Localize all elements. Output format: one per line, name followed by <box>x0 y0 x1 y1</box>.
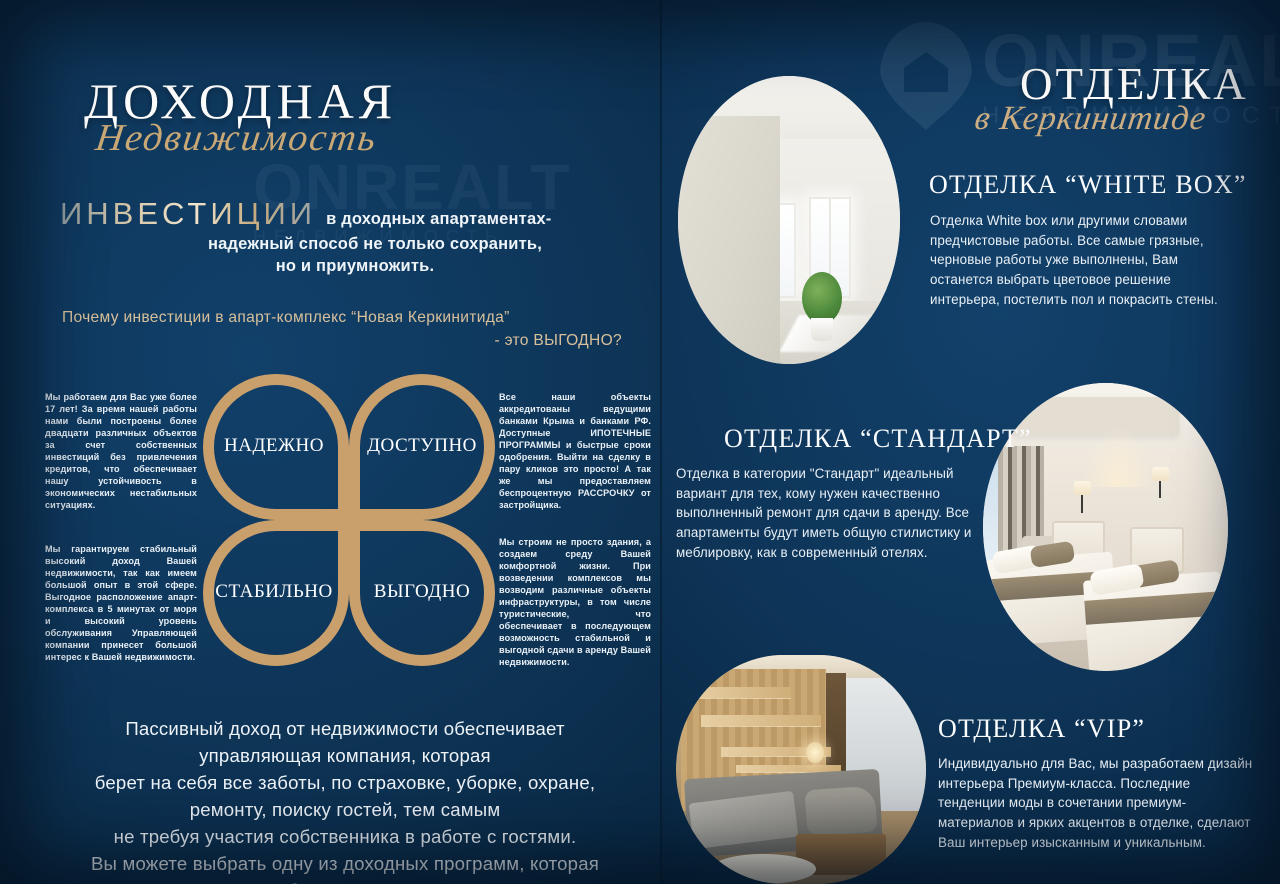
note-bottom-left: Мы гарантируем стабильный высокий доход … <box>45 543 197 663</box>
panel-divider <box>660 0 662 884</box>
note-bottom-right: Мы строим не просто здания, а создаем ср… <box>499 536 651 668</box>
empty-white-room-photo <box>678 76 900 364</box>
section-title-standard: ОТДЕЛКА “СТАНДАРТ” <box>724 424 1032 454</box>
why-line-2: - это ВЫГОДНО? <box>62 329 622 352</box>
paragraph-line: Вам больше подходит. <box>40 878 650 884</box>
section-body-white-box: Отделка White box или другими словами пр… <box>930 211 1230 310</box>
paragraph-line: берет на себя все заботы, по страховке, … <box>40 770 650 797</box>
paragraph-line: управляющая компания, которая <box>40 743 650 770</box>
petal-label-profitable: ВЫГОДНО <box>349 581 495 603</box>
investments-line3: но и приумножить. <box>60 257 620 276</box>
note-top-left: Мы работаем для Вас уже более 17 лет! За… <box>45 391 197 511</box>
paragraph-line: ремонту, поиску гостей, тем самым <box>40 797 650 824</box>
investments-headline: ИНВЕСТИЦИИ <box>60 196 316 232</box>
right-title-script: в Керкинитиде <box>972 100 1208 138</box>
brochure-page: ONREALT НЕДВИЖИМОСТЬ ONREALT НЕДВИЖИМОСТ… <box>0 0 1280 884</box>
benefits-petal-diagram: НАДЕЖНО ДОСТУПНО СТАБИЛЬНО ВЫГОДНО <box>203 374 495 666</box>
left-title-script: Недвижимость <box>93 116 380 160</box>
investments-line2: надежный способ не только сохранить, <box>60 235 620 254</box>
petal-label-affordable: ДОСТУПНО <box>349 435 495 457</box>
investments-block: ИНВЕСТИЦИИ в доходных апартаментах- наде… <box>60 196 620 276</box>
investments-tail: в доходных апартаментах- <box>326 210 551 229</box>
section-body-vip: Индивидуально для Вас, мы разработаем ди… <box>938 754 1260 853</box>
section-title-white-box: ОТДЕЛКА “WHITE BOX” <box>929 170 1247 200</box>
passive-income-paragraph: Пассивный доход от недвижимости обеспечи… <box>40 716 650 884</box>
why-line-1: Почему инвестиции в апарт-комплекс “Нова… <box>62 306 622 329</box>
note-top-right: Все наши объекты аккредитованы ведущими … <box>499 391 651 511</box>
vip-bedroom-photo <box>676 655 926 884</box>
paragraph-line: не требуя участия собственника в работе … <box>40 824 650 851</box>
why-question: Почему инвестиции в апарт-комплекс “Нова… <box>62 306 622 353</box>
paragraph-line: Пассивный доход от недвижимости обеспечи… <box>40 716 650 743</box>
paragraph-line: Вы можете выбрать одну из доходных прогр… <box>40 851 650 878</box>
section-body-standard: Отделка в категории "Стандарт" идеальный… <box>676 464 1006 563</box>
petal-label-stable: СТАБИЛЬНО <box>201 581 347 603</box>
section-title-vip: ОТДЕЛКА “VIP” <box>938 714 1145 744</box>
petal-label-reliable: НАДЕЖНО <box>201 435 347 457</box>
